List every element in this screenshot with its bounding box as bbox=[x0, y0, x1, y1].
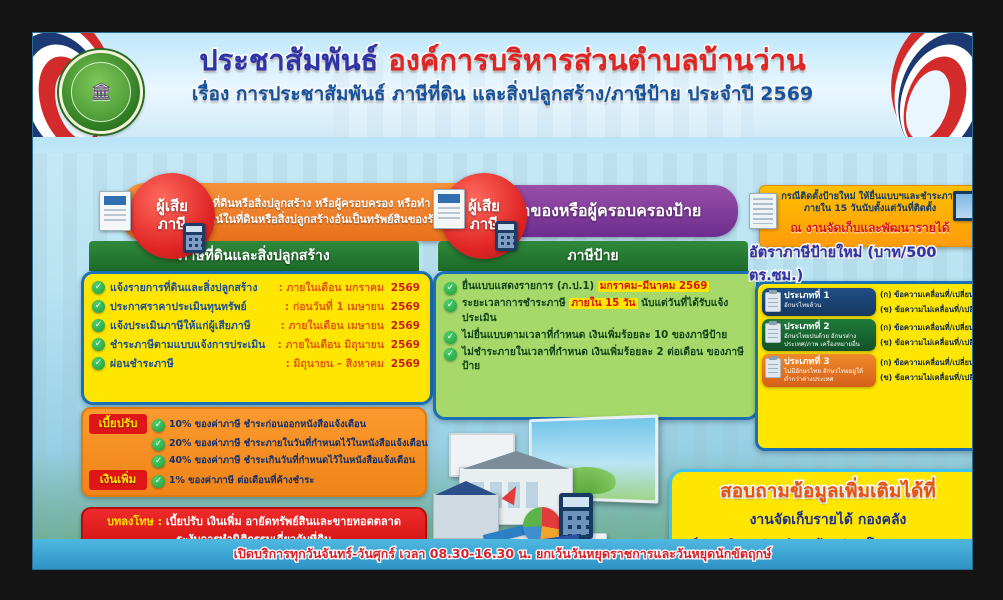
land-row-year: 2569 bbox=[390, 339, 420, 351]
contact-office: งานจัดเก็บรายได้ กองคลัง bbox=[750, 509, 907, 531]
poster-stage: 🏛 ประชาสัมพันธ์ องค์การบริหารส่วนตำบลบ้า… bbox=[0, 0, 1003, 600]
footer-bar: เปิดบริการทุกวันจันทร์-วันศุกร์ เวลา 08.… bbox=[33, 539, 972, 569]
contact-headline: สอบถามข้อมูลเพิ่มเติมได้ที่ bbox=[720, 476, 936, 506]
penalty-line1: บทลงโทษ : เบี้ยปรับ เงินเพิ่ม อายัดทรัพย… bbox=[107, 512, 401, 530]
rate-line: (ข) ข้อความไม่เคลื่อนที่/เปลี่ยนไม่ได้5 bbox=[880, 303, 973, 316]
rate-type-body: (ก) ข้อความเคลื่อนที่/เปลี่ยนได้52(ข) ข้… bbox=[880, 319, 973, 351]
check-icon: ✓ bbox=[92, 281, 105, 294]
sign-document-icon bbox=[433, 189, 465, 229]
rate-line: (ข) ข้อความไม่เคลื่อนที่/เปลี่ยนไม่ได้26 bbox=[880, 336, 973, 349]
check-icon: ✓ bbox=[152, 455, 165, 468]
sign-rule-row: ✓ยื่นแบบแสดงรายการ (ภ.ป.1) มกราคม–มีนาคม… bbox=[438, 279, 754, 296]
land-badge-line1: ผู้เสีย bbox=[156, 198, 188, 216]
rate-line-text: (ข) ข้อความไม่เคลื่อนที่/เปลี่ยนไม่ได้ bbox=[880, 372, 973, 384]
fine-penalty-tag: เบี้ยปรับ bbox=[89, 414, 147, 434]
land-row-deadline: : ภายในเดือน มิถุนายน bbox=[278, 336, 384, 353]
sign-rule-highlight: ภายใน 15 วัน bbox=[569, 298, 637, 309]
sign-badge-line1: ผู้เสีย bbox=[468, 198, 500, 216]
rate-line-text: (ก) ข้อความเคลื่อนที่/เปลี่ยนได้ bbox=[880, 357, 973, 369]
land-row-label: ชำระภาษีตามแบบแจ้งการประเมิน bbox=[110, 336, 272, 353]
info-document-icon bbox=[749, 193, 777, 229]
rate-line: (ก) ข้อความเคลื่อนที่/เปลี่ยนได้10 bbox=[880, 288, 973, 301]
sign-rule-row: ✓ไม่ยื่นแบบตามเวลาที่กำหนด เงินเพิ่มร้อย… bbox=[438, 328, 754, 345]
signboard-rate-table: ประเภทที่ 1อักษรไทยล้วน(ก) ข้อความเคลื่อ… bbox=[755, 281, 973, 451]
land-row-content: แจ้งรายการที่ดินและสิ่งปลูกสร้าง: ภายในเ… bbox=[110, 279, 422, 296]
clipboard-icon bbox=[765, 292, 781, 312]
title-block: ประชาสัมพันธ์ องค์การบริหารส่วนตำบลบ้านว… bbox=[153, 45, 852, 109]
sign-badge-line2: ภาษี bbox=[470, 216, 498, 234]
footer-hours: เปิดบริการทุกวันจันทร์-วันศุกร์ เวลา 08.… bbox=[234, 544, 772, 564]
land-row-label: แจ้งประเมินภาษีให้แก่ผู้เสียภาษี bbox=[110, 317, 275, 334]
land-row-deadline: : ภายในเดือน เมษายน bbox=[281, 317, 384, 334]
rate-type-row: ประเภทที่ 2อักษรไทยปนด้วย อักษรต่างประเท… bbox=[762, 319, 973, 351]
land-row-content: ชำระภาษีตามแบบแจ้งการประเมิน: ภายในเดือน… bbox=[110, 336, 422, 353]
land-row-year: 2569 bbox=[390, 320, 420, 332]
rate-line: (ก) ข้อความเคลื่อนที่/เปลี่ยนได้52 bbox=[880, 321, 973, 334]
check-icon: ✓ bbox=[444, 299, 457, 312]
rate-type-tag: ประเภทที่ 1อักษรไทยล้วน bbox=[762, 288, 876, 316]
rate-type-name: ประเภทที่ 2 bbox=[784, 322, 872, 333]
land-badge-line2: ภาษี bbox=[158, 216, 186, 234]
subdistrict-seal-icon: 🏛 bbox=[59, 50, 143, 134]
land-row-year: 2569 bbox=[390, 301, 420, 313]
land-row-label: แจ้งรายการที่ดินและสิ่งปลูกสร้าง bbox=[110, 279, 273, 296]
poster-header: 🏛 ประชาสัมพันธ์ องค์การบริหารส่วนตำบลบ้า… bbox=[33, 33, 972, 137]
rate-type-row: ประเภทที่ 1อักษรไทยล้วน(ก) ข้อความเคลื่อ… bbox=[762, 288, 973, 316]
sign-calculator-icon bbox=[495, 221, 517, 251]
fine-row: ✓40% ของค่าภาษี ชำระเกินวันที่กำหนดไว้ใน… bbox=[152, 453, 428, 468]
sign-rule-pre: ไม่ยื่นแบบตามเวลาที่กำหนด เงินเพิ่มร้อยล… bbox=[462, 330, 727, 341]
sign-rule-highlight: มกราคม–มีนาคม 2569 bbox=[598, 281, 710, 292]
rate-line-text: (ก) ข้อความเคลื่อนที่/เปลี่ยนได้ bbox=[880, 322, 973, 334]
rate-line-text: (ข) ข้อความไม่เคลื่อนที่/เปลี่ยนไม่ได้ bbox=[880, 304, 973, 316]
info-line3: ณ งานจัดเก็บและพัฒนารายได้ bbox=[766, 219, 973, 238]
fine-row: ✓10% ของค่าภาษี ชำระก่อนออกหนังสือแจ้งเต… bbox=[152, 417, 428, 432]
sign-rule-pre: ระยะเวลาการชำระภาษี bbox=[462, 298, 569, 309]
check-icon: ✓ bbox=[92, 357, 105, 370]
title-part1: ประชาสัมพันธ์ bbox=[199, 43, 378, 77]
land-row-deadline: : ก่อนวันที่ 1 เมษายน bbox=[285, 298, 384, 315]
sign-rule-pre: ยื่นแบบแสดงรายการ (ภ.ป.1) bbox=[462, 281, 598, 292]
fine-row-text: 40% ของค่าภาษี ชำระเกินวันที่กำหนดไว้ในห… bbox=[169, 453, 415, 468]
land-schedule-row: ✓ประกาศราคาประเมินทุนทรัพย์: ก่อนวันที่ … bbox=[86, 297, 428, 316]
public-relations-poster: 🏛 ประชาสัมพันธ์ องค์การบริหารส่วนตำบลบ้า… bbox=[32, 32, 973, 570]
surcharge-row: ✓1% ของค่าภาษี ต่อเดือนที่ค้างชำระ bbox=[152, 473, 428, 488]
rate-line: (ก) ข้อความเคลื่อนที่/เปลี่ยนได้52 bbox=[880, 356, 973, 369]
land-schedule-row: ✓แจ้งรายการที่ดินและสิ่งปลูกสร้าง: ภายใน… bbox=[86, 278, 428, 297]
fine-row: ✓20% ของค่าภาษี ชำระภายในวันที่กำหนดไว้ใ… bbox=[152, 436, 428, 451]
fine-row-text: 10% ของค่าภาษี ชำระก่อนออกหนังสือแจ้งเตื… bbox=[169, 417, 366, 432]
rate-rows: ประเภทที่ 1อักษรไทยล้วน(ก) ข้อความเคลื่อ… bbox=[762, 288, 973, 387]
check-icon: ✓ bbox=[152, 475, 165, 488]
penalty-line1-text: เบี้ยปรับ เงินเพิ่ม อายัดทรัพย์สินและขาย… bbox=[162, 515, 401, 528]
land-row-label: ประกาศราคาประเมินทุนทรัพย์ bbox=[110, 298, 279, 315]
land-schedule-row: ✓แจ้งประเมินภาษีให้แก่ผู้เสียภาษี: ภายใน… bbox=[86, 316, 428, 335]
land-row-content: ผ่อนชำระภาษี: มิถุนายน – สิงหาคม2569 bbox=[110, 355, 422, 372]
page-subtitle: เรื่อง การประชาสัมพันธ์ ภาษีที่ดิน และสิ… bbox=[153, 79, 852, 109]
rate-line-text: (ข) ข้อความไม่เคลื่อนที่/เปลี่ยนไม่ได้ bbox=[880, 337, 973, 349]
sign-rules-panel: ✓ยื่นแบบแสดงรายการ (ภ.ป.1) มกราคม–มีนาคม… bbox=[433, 271, 759, 420]
rate-type-name: ประเภทที่ 3 bbox=[784, 357, 872, 368]
rate-type-body: (ก) ข้อความเคลื่อนที่/เปลี่ยนได้52(ข) ข้… bbox=[880, 354, 973, 386]
second-house-icon bbox=[433, 493, 499, 539]
rate-table-title: อัตราภาษีป้ายใหม่ (บาท/500 ตร.ซม.) bbox=[749, 251, 973, 277]
land-row-content: แจ้งประเมินภาษีให้แก่ผู้เสียภาษี: ภายในเ… bbox=[110, 317, 422, 334]
check-icon: ✓ bbox=[92, 338, 105, 351]
rate-line-text: (ก) ข้อความเคลื่อนที่/เปลี่ยนได้ bbox=[880, 289, 973, 301]
land-schedule-row: ✓ผ่อนชำระภาษี: มิถุนายน – สิงหาคม2569 bbox=[86, 354, 428, 373]
check-icon: ✓ bbox=[444, 282, 457, 295]
surcharge-row-text: 1% ของค่าภาษี ต่อเดือนที่ค้างชำระ bbox=[169, 473, 314, 488]
rate-type-tag: ประเภทที่ 2อักษรไทยปนด้วย อักษรต่างประเท… bbox=[762, 319, 876, 351]
land-row-year: 2569 bbox=[390, 358, 420, 370]
clipboard-icon bbox=[765, 358, 781, 378]
penalty-tag: บทลงโทษ : bbox=[107, 515, 162, 528]
fines-grid: เบี้ยปรับ✓10% ของค่าภาษี ชำระก่อนออกหนัง… bbox=[89, 414, 419, 490]
sign-rule-text: ไม่ชำระภายในเวลาที่กำหนด เงินเพิ่มร้อยละ… bbox=[462, 346, 748, 376]
rate-type-tag: ประเภทที่ 3ไม่มีอักษรไทย อักษรไทยอยู่ใต้… bbox=[762, 354, 876, 386]
sign-rules-rows: ✓ยื่นแบบแสดงรายการ (ภ.ป.1) มกราคม–มีนาคม… bbox=[436, 274, 756, 381]
fines-panel: เบี้ยปรับ✓10% ของค่าภาษี ชำระก่อนออกหนัง… bbox=[81, 407, 427, 497]
calculator-illustration-icon bbox=[559, 493, 593, 539]
fine-surcharge-tag: เงินเพิ่ม bbox=[89, 470, 147, 490]
sign-rule-text: ระยะเวลาการชำระภาษี ภายใน 15 วัน นับแต่ว… bbox=[462, 297, 748, 327]
land-schedule-panel: ✓แจ้งรายการที่ดินและสิ่งปลูกสร้าง: ภายใน… bbox=[81, 271, 433, 405]
land-section-title: ภาษีที่ดินและสิ่งปลูกสร้าง bbox=[89, 241, 419, 271]
check-icon: ✓ bbox=[92, 319, 105, 332]
sign-rule-row: ✓ไม่ชำระภายในเวลาที่กำหนด เงินเพิ่มร้อยล… bbox=[438, 345, 754, 377]
clipboard-icon bbox=[765, 323, 781, 343]
billboard-illustration bbox=[431, 411, 681, 559]
land-document-icon bbox=[99, 191, 131, 231]
land-row-deadline: : มิถุนายน – สิงหาคม bbox=[286, 355, 384, 372]
land-row-label: ผ่อนชำระภาษี bbox=[110, 355, 280, 372]
sign-rule-text: ไม่ยื่นแบบตามเวลาที่กำหนด เงินเพิ่มร้อยล… bbox=[462, 329, 727, 344]
rate-type-sub: ไม่มีอักษรไทย อักษรไทยอยู่ใต้ ต่ำกว่าต่า… bbox=[784, 368, 872, 384]
check-icon: ✓ bbox=[152, 438, 165, 451]
seal-inner: 🏛 bbox=[71, 62, 131, 122]
check-icon: ✓ bbox=[444, 331, 457, 344]
rate-line: (ข) ข้อความไม่เคลื่อนที่/เปลี่ยนไม่ได้50 bbox=[880, 371, 973, 384]
check-icon: ✓ bbox=[92, 300, 105, 313]
rate-type-name: ประเภทที่ 1 bbox=[784, 291, 872, 302]
land-calculator-icon bbox=[183, 223, 205, 253]
check-icon: ✓ bbox=[444, 348, 457, 361]
info-monitor-icon bbox=[953, 191, 973, 221]
land-schedule-rows: ✓แจ้งรายการที่ดินและสิ่งปลูกสร้าง: ภายใน… bbox=[84, 274, 430, 377]
sign-rule-row: ✓ระยะเวลาการชำระภาษี ภายใน 15 วัน นับแต่… bbox=[438, 296, 754, 328]
land-schedule-row: ✓ชำระภาษีตามแบบแจ้งการประเมิน: ภายในเดือ… bbox=[86, 335, 428, 354]
sign-rule-pre: ไม่ชำระภายในเวลาที่กำหนด เงินเพิ่มร้อยละ… bbox=[462, 347, 744, 373]
new-signboard-info-box: กรณีติดตั้งป้ายใหม่ ให้ยื่นแบบฯและชำระภา… bbox=[759, 185, 973, 247]
land-row-deadline: : ภายในเดือน มกราคม bbox=[279, 279, 384, 296]
land-row-year: 2569 bbox=[390, 282, 420, 294]
rate-type-body: (ก) ข้อความเคลื่อนที่/เปลี่ยนได้10(ข) ข้… bbox=[880, 288, 973, 316]
page-title: ประชาสัมพันธ์ องค์การบริหารส่วนตำบลบ้านว… bbox=[153, 45, 852, 75]
rate-type-sub: อักษรไทยล้วน bbox=[784, 302, 872, 310]
check-icon: ✓ bbox=[152, 419, 165, 432]
title-part2: องค์การบริหารส่วนตำบลบ้านว่าน bbox=[388, 43, 805, 77]
rate-type-row: ประเภทที่ 3ไม่มีอักษรไทย อักษรไทยอยู่ใต้… bbox=[762, 354, 973, 386]
sign-rule-text: ยื่นแบบแสดงรายการ (ภ.ป.1) มกราคม–มีนาคม … bbox=[462, 280, 709, 295]
rate-type-sub: อักษรไทยปนด้วย อักษรต่างประเทศ/ภาพ เครื่… bbox=[784, 333, 872, 349]
info-line2: ภายใน 15 วันนับตั้งแต่วันที่ติดตั้ง bbox=[766, 203, 973, 215]
fine-row-text: 20% ของค่าภาษี ชำระภายในวันที่กำหนดไว้ใน… bbox=[169, 436, 428, 451]
info-line1: กรณีติดตั้งป้ายใหม่ ให้ยื่นแบบฯและชำระภา… bbox=[766, 191, 973, 203]
land-row-content: ประกาศราคาประเมินทุนทรัพย์: ก่อนวันที่ 1… bbox=[110, 298, 422, 315]
